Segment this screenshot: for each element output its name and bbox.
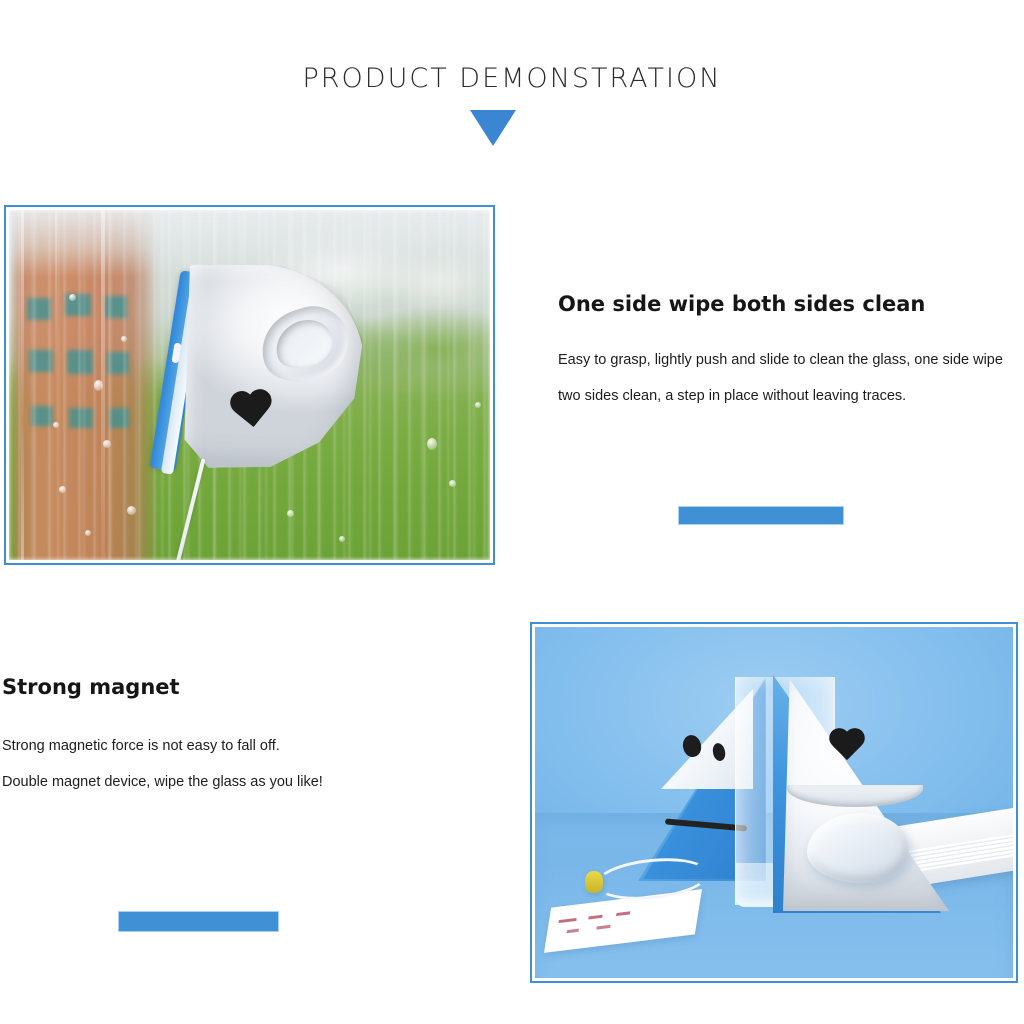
water-droplet [121, 336, 127, 342]
accent-bar-one-side-wipe [678, 506, 844, 525]
cord-yellow-stopper [585, 871, 603, 893]
product-image-one-side-wipe [4, 205, 495, 565]
section-heading-strong-magnet: Strong magnet [2, 675, 180, 699]
water-droplet [127, 506, 136, 515]
water-droplet [287, 510, 294, 517]
water-droplet [103, 440, 111, 448]
water-droplet [59, 486, 66, 493]
water-droplet [69, 294, 76, 301]
product-image-strong-magnet [530, 622, 1018, 983]
heart-cutout-icon [227, 389, 277, 436]
water-droplet [427, 438, 437, 450]
page-header: PRODUCT DEMONSTRATION [0, 0, 1024, 175]
water-droplet [339, 536, 345, 542]
accent-bar-strong-magnet [118, 911, 279, 932]
water-droplet [85, 530, 91, 536]
photo-2-canvas [535, 627, 1013, 978]
water-droplet [475, 402, 481, 408]
water-droplet [53, 422, 59, 428]
window-cleaner-device [157, 265, 387, 495]
heart-cutout-icon [827, 729, 867, 767]
triangle-down-icon [470, 110, 516, 146]
section-heading-one-side-wipe: One side wipe both sides clean [558, 292, 925, 316]
water-droplet [94, 380, 103, 391]
photo-1-canvas [9, 210, 490, 560]
section-body-line: Strong magnetic force is not easy to fal… [2, 728, 472, 764]
section-body-strong-magnet: Strong magnetic force is not easy to fal… [2, 728, 472, 800]
water-droplet [449, 480, 456, 487]
section-body-one-side-wipe: Easy to grasp, lightly push and slide to… [558, 342, 1018, 414]
section-body-line: Double magnet device, wipe the glass as … [2, 764, 472, 800]
wiper-handle-knob [807, 813, 909, 883]
page-title: PRODUCT DEMONSTRATION [0, 63, 1024, 94]
